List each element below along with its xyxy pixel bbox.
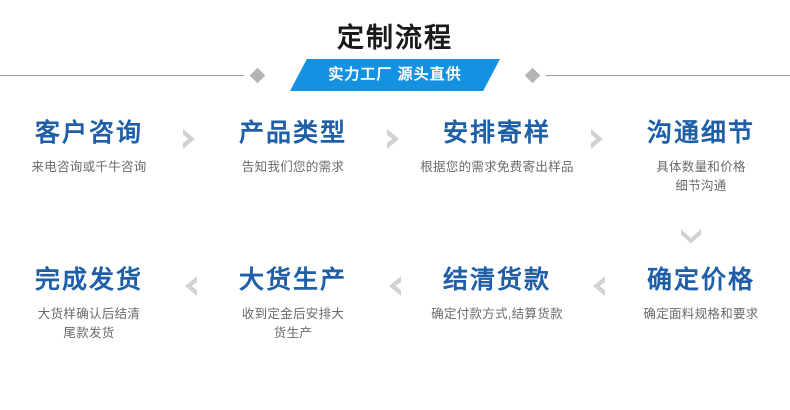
- divider-line-left: [0, 75, 244, 76]
- flow-step-4-desc: 具体数量和价格细节沟通: [612, 158, 790, 196]
- custom-process-infographic: 定制流程 实力工厂 源头直供 客户咨询 来电咨询或千牛咨询 产品类型 告知我们您…: [0, 0, 790, 410]
- flow-step-3-title: 安排寄样: [408, 115, 586, 151]
- flow-step-8-desc: 大货样确认后结清尾款发货: [0, 305, 178, 343]
- flow-step-6-desc: 确定付款方式,结算货款: [408, 305, 586, 324]
- flow-step-3-desc: 根据您的需求免费寄出样品: [408, 158, 586, 177]
- flow-step-1-desc: 来电咨询或千牛咨询: [0, 158, 178, 177]
- flow-step-1: 客户咨询 来电咨询或千牛咨询: [0, 115, 178, 177]
- diamond-marker-left: [250, 68, 266, 84]
- chevron-down-icon: [678, 226, 704, 244]
- page-title: 定制流程: [0, 22, 790, 54]
- flow-step-2-desc: 告知我们您的需求: [204, 158, 382, 177]
- flow-step-4: 沟通细节 具体数量和价格细节沟通: [612, 115, 790, 196]
- flow-step-8-title: 完成发货: [0, 262, 178, 298]
- chevron-right-icon: [586, 121, 612, 157]
- flow-step-6: 结清货款 确定付款方式,结算货款: [408, 262, 586, 324]
- flow-step-5-title: 确定价格: [612, 262, 790, 298]
- flow-step-7: 大货生产 收到定金后安排大货生产: [204, 262, 382, 343]
- flow-step-5-desc: 确定面料规格和要求: [612, 305, 790, 324]
- flow-step-8: 完成发货 大货样确认后结清尾款发货: [0, 262, 178, 343]
- chevron-left-icon: [178, 268, 204, 304]
- ribbon-label: 实力工厂 源头直供: [328, 59, 461, 91]
- flow-step-4-title: 沟通细节: [612, 115, 790, 151]
- divider-line-right: [546, 75, 790, 76]
- header-section: 定制流程 实力工厂 源头直供: [0, 0, 790, 100]
- chevron-right-icon: [382, 121, 408, 157]
- flow-step-2: 产品类型 告知我们您的需求: [204, 115, 382, 177]
- diamond-marker-right: [525, 68, 541, 84]
- chevron-left-icon: [586, 268, 612, 304]
- flow-row-top: 客户咨询 来电咨询或千牛咨询 产品类型 告知我们您的需求 安排寄样 根据您的需求…: [0, 115, 790, 196]
- flow-step-1-title: 客户咨询: [0, 115, 178, 151]
- flow-step-6-title: 结清货款: [408, 262, 586, 298]
- flow-step-7-title: 大货生产: [204, 262, 382, 298]
- ribbon-banner: 实力工厂 源头直供: [290, 59, 500, 91]
- flow-step-5: 确定价格 确定面料规格和要求: [612, 262, 790, 324]
- flow-row-bottom: 完成发货 大货样确认后结清尾款发货 大货生产 收到定金后安排大货生产 结清货款 …: [0, 262, 790, 343]
- flow-step-3: 安排寄样 根据您的需求免费寄出样品: [408, 115, 586, 177]
- flow-step-2-title: 产品类型: [204, 115, 382, 151]
- chevron-right-icon: [178, 121, 204, 157]
- flow-step-7-desc: 收到定金后安排大货生产: [204, 305, 382, 343]
- chevron-left-icon: [382, 268, 408, 304]
